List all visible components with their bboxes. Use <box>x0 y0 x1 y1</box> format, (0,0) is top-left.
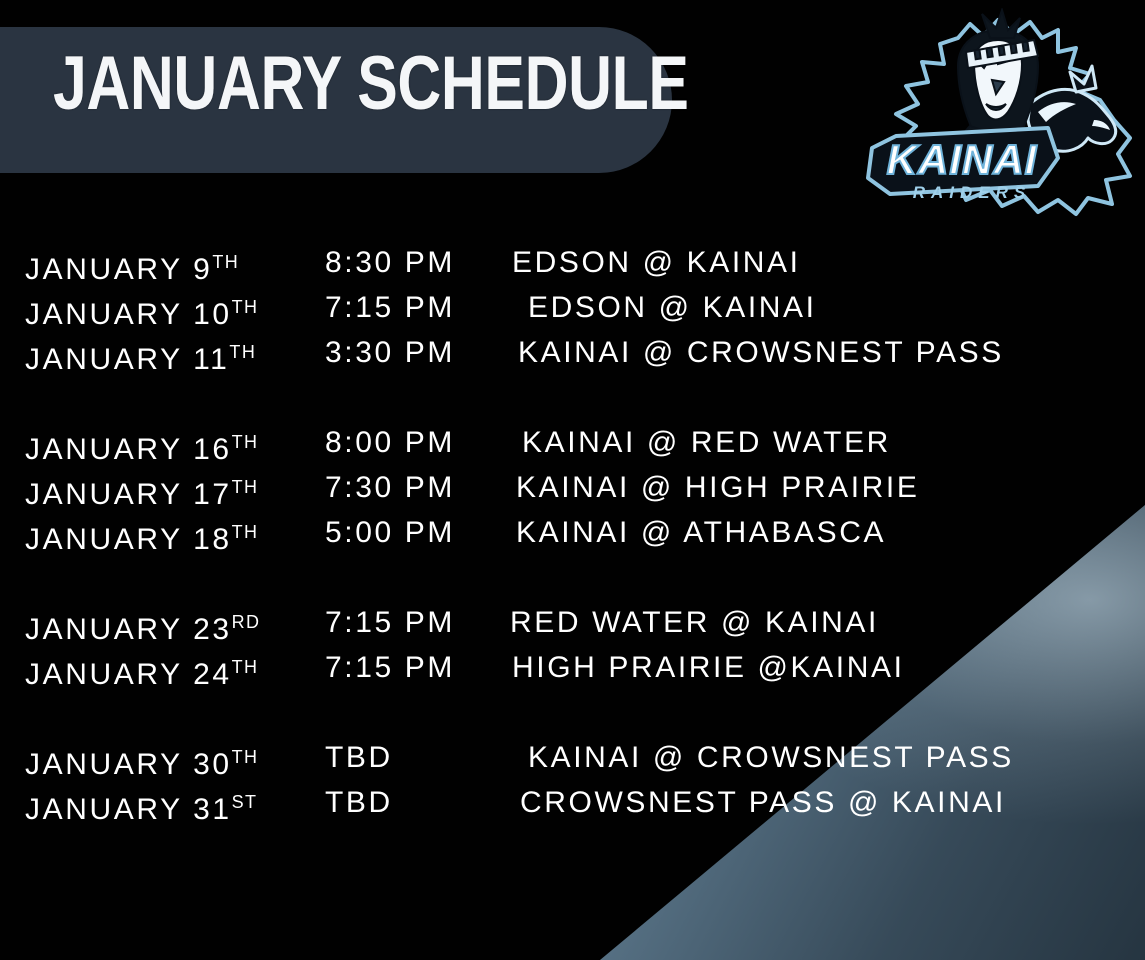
game-matchup: KAINAI @ CROWSNEST PASS <box>518 330 1004 375</box>
schedule-group: JANUARY 16TH8:00 PMKAINAI @ RED WATERJAN… <box>0 420 1145 555</box>
logo-secondary-text: RAIDERS <box>913 183 1032 202</box>
game-matchup: CROWSNEST PASS @ KAINAI <box>520 780 1006 825</box>
game-time: 7:15 PM <box>325 285 500 330</box>
game-matchup: KAINAI @ HIGH PRAIRIE <box>516 465 919 510</box>
date-ordinal-suffix: TH <box>212 252 239 272</box>
game-time: 8:00 PM <box>325 420 500 465</box>
schedule-row: JANUARY 17TH7:30 PMKAINAI @ HIGH PRAIRIE <box>0 465 1145 510</box>
date-ordinal-suffix: TH <box>229 342 256 362</box>
schedule-list: JANUARY 9TH8:30 PMEDSON @ KAINAIJANUARY … <box>0 240 1145 825</box>
schedule-row: JANUARY 24TH7:15 PMHIGH PRAIRIE @KAINAI <box>0 645 1145 690</box>
svg-text:KAINAI: KAINAI <box>887 136 1038 183</box>
date-ordinal-suffix: TH <box>232 432 259 452</box>
game-time: 3:30 PM <box>325 330 500 375</box>
game-time: 7:30 PM <box>325 465 500 510</box>
game-matchup: KAINAI @ ATHABASCA <box>516 510 886 555</box>
game-matchup: HIGH PRAIRIE @KAINAI <box>512 645 905 690</box>
game-matchup: KAINAI @ CROWSNEST PASS <box>528 735 1014 780</box>
kainai-raiders-logo: KAINAI RAIDERS <box>862 8 1140 223</box>
schedule-poster: JANUARY SCHEDULE <box>0 0 1145 960</box>
schedule-row: JANUARY 16TH8:00 PMKAINAI @ RED WATER <box>0 420 1145 465</box>
date-ordinal-suffix: TH <box>232 477 259 497</box>
date-ordinal-suffix: ST <box>232 792 258 812</box>
game-date: JANUARY 24TH <box>25 645 305 697</box>
date-ordinal-suffix: TH <box>232 657 259 677</box>
game-matchup: EDSON @ KAINAI <box>528 285 817 330</box>
date-ordinal-suffix: RD <box>232 612 261 632</box>
game-matchup: RED WATER @ KAINAI <box>510 600 879 645</box>
game-time: 8:30 PM <box>325 240 500 285</box>
schedule-row: JANUARY 18TH5:00 PMKAINAI @ ATHABASCA <box>0 510 1145 555</box>
page-title: JANUARY SCHEDULE <box>53 46 688 122</box>
schedule-group: JANUARY 23RD7:15 PMRED WATER @ KAINAIJAN… <box>0 600 1145 690</box>
game-matchup: EDSON @ KAINAI <box>512 240 801 285</box>
date-ordinal-suffix: TH <box>232 297 259 317</box>
game-date: JANUARY 11TH <box>25 330 305 382</box>
schedule-row: JANUARY 30THTBDKAINAI @ CROWSNEST PASS <box>0 735 1145 780</box>
schedule-row: JANUARY 10TH7:15 PMEDSON @ KAINAI <box>0 285 1145 330</box>
game-matchup: KAINAI @ RED WATER <box>522 420 891 465</box>
schedule-row: JANUARY 23RD7:15 PMRED WATER @ KAINAI <box>0 600 1145 645</box>
game-time: TBD <box>325 735 500 780</box>
schedule-row: JANUARY 31STTBDCROWSNEST PASS @ KAINAI <box>0 780 1145 825</box>
schedule-group: JANUARY 30THTBDKAINAI @ CROWSNEST PASSJA… <box>0 735 1145 825</box>
game-time: TBD <box>325 780 500 825</box>
schedule-row: JANUARY 11TH3:30 PMKAINAI @ CROWSNEST PA… <box>0 330 1145 375</box>
game-time: 5:00 PM <box>325 510 500 555</box>
date-ordinal-suffix: TH <box>232 522 259 542</box>
schedule-group: JANUARY 9TH8:30 PMEDSON @ KAINAIJANUARY … <box>0 240 1145 375</box>
game-date: JANUARY 31ST <box>25 780 305 832</box>
schedule-row: JANUARY 9TH8:30 PMEDSON @ KAINAI <box>0 240 1145 285</box>
game-date: JANUARY 18TH <box>25 510 305 562</box>
game-time: 7:15 PM <box>325 600 500 645</box>
game-time: 7:15 PM <box>325 645 500 690</box>
date-ordinal-suffix: TH <box>232 747 259 767</box>
